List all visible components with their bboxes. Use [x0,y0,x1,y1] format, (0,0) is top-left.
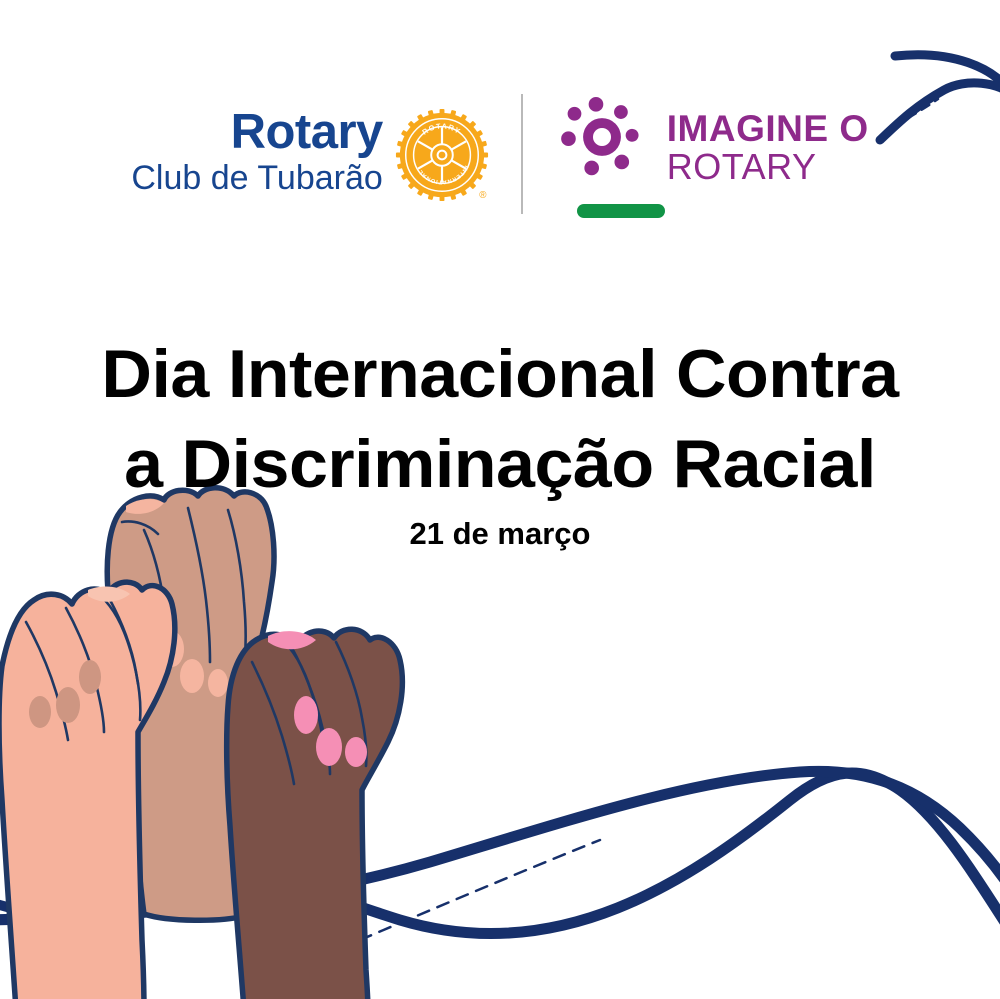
title-line-2: a Discriminação Racial [0,420,1000,510]
green-brush-underline [577,204,665,218]
registered-trademark-glyph: ® [479,190,487,201]
header-logo-bar: Rotary Club de Tubarão [0,88,1000,233]
imagine-rotary-logo: IMAGINE O ROTARY [559,88,869,218]
page-subtitle: 21 de março [0,516,1000,552]
imagine-line-1: IMAGINE O [667,110,869,147]
imagine-sunburst-icon [559,94,645,180]
rotary-wordmark: Rotary [231,108,383,158]
fist-dark-skin [227,629,403,999]
imagine-rotary-wordmark: IMAGINE O ROTARY [667,110,869,185]
rotary-wheel-icon: ROTARY INTERNATIONAL ® [393,106,491,204]
rotary-club-name: Club de Tubarão [131,160,382,197]
logo-divider [521,94,523,214]
imagine-line-2: ROTARY [667,149,869,185]
rotary-wordmark-group: Rotary Club de Tubarão [131,108,390,197]
poster-canvas: Rotary Club de Tubarão [0,0,1000,999]
title-line-1: Dia Internacional Contra [0,330,1000,420]
headline-block: Dia Internacional Contra a Discriminação… [0,330,1000,552]
rotary-club-logo: Rotary Club de Tubarão [131,88,490,218]
page-title: Dia Internacional Contra a Discriminação… [0,330,1000,510]
